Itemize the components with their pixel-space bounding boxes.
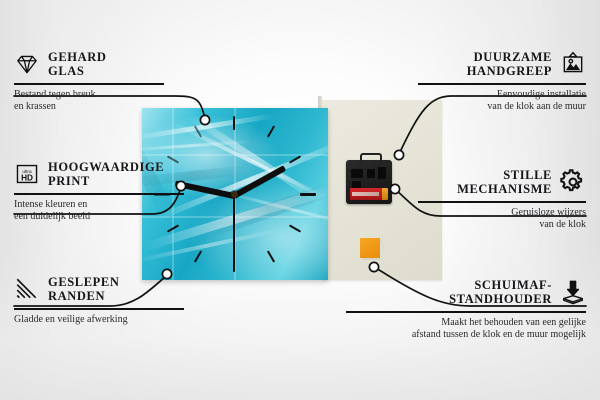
picture-frame-icon bbox=[560, 51, 586, 77]
mechanism-slot bbox=[367, 169, 375, 178]
gear-icon bbox=[560, 169, 586, 195]
clock-tick bbox=[233, 116, 235, 130]
callout-subtitle-line2: een duidelijk beeld bbox=[14, 211, 184, 224]
callout-subtitle-line2: van de klok bbox=[418, 219, 586, 232]
callout-header: GEHARD GLAS bbox=[14, 50, 164, 78]
callout-subtitle-line1: Maakt het behouden van een gelijke bbox=[346, 317, 586, 330]
callout-header: ultra HD HOOGWAARDIGE PRINT bbox=[14, 160, 184, 188]
callout-subtitle-line1: Eenvoudige installatie bbox=[418, 89, 586, 102]
clock-center-hub bbox=[231, 191, 238, 198]
callout-divider bbox=[418, 83, 586, 85]
callout-subtitle-line2: afstand tussen de klok en de muur mogeli… bbox=[346, 329, 586, 342]
callout-divider bbox=[346, 311, 586, 313]
callout-divider bbox=[14, 308, 184, 310]
product-feature-infographic: GEHARD GLAS Bestand tegen breuk en krass… bbox=[0, 0, 600, 400]
callout-header: STILLE MECHANISME bbox=[418, 168, 586, 196]
callout-header: DUURZAME HANDGREEP bbox=[418, 50, 586, 78]
callout-title: GEHARD GLAS bbox=[48, 50, 106, 78]
svg-text:HD: HD bbox=[21, 174, 33, 183]
callout-subtitle-line1: Intense kleuren en bbox=[14, 199, 184, 212]
callout-divider bbox=[418, 201, 586, 203]
callout-schuimafstandhouder: SCHUIMAF- STANDHOUDER Maakt het behouden… bbox=[346, 278, 586, 342]
callout-subtitle-line2: en krassen bbox=[14, 101, 164, 114]
callout-title: SCHUIMAF- STANDHOUDER bbox=[449, 278, 552, 306]
clock-mechanism bbox=[346, 160, 392, 204]
callout-header: GESLEPEN RANDEN bbox=[14, 275, 184, 303]
callout-geslepen-randen: GESLEPEN RANDEN Gladde en veilige afwerk… bbox=[14, 275, 184, 326]
callout-title: DUURZAME HANDGREEP bbox=[467, 50, 552, 78]
callout-title: STILLE MECHANISME bbox=[457, 168, 552, 196]
callout-duurzame-handgreep: DUURZAME HANDGREEP Eenvoudige installati… bbox=[418, 50, 586, 114]
beveled-edges-icon bbox=[14, 276, 40, 302]
ultra-hd-icon: ultra HD bbox=[14, 161, 40, 187]
mechanism-slot bbox=[352, 181, 361, 188]
foam-spacer-pad bbox=[360, 238, 380, 258]
hanger-loop-icon bbox=[360, 153, 382, 164]
callout-subtitle-line2: van de klok aan de muur bbox=[418, 101, 586, 114]
battery bbox=[350, 188, 382, 200]
callout-title: HOOGWAARDIGE PRINT bbox=[48, 160, 164, 188]
diamond-icon bbox=[14, 51, 40, 77]
callout-divider bbox=[14, 193, 184, 195]
callout-gehard-glas: GEHARD GLAS Bestand tegen breuk en krass… bbox=[14, 50, 164, 114]
mechanism-slot bbox=[351, 169, 363, 178]
foam-pad-side bbox=[380, 241, 384, 261]
callout-hoogwaardige-print: ultra HD HOOGWAARDIGE PRINT Intense kleu… bbox=[14, 160, 184, 224]
callout-subtitle-line1: Geruisloze wijzers bbox=[418, 207, 586, 220]
callout-stille-mechanisme: STILLE MECHANISME Geruisloze wijzers van… bbox=[418, 168, 586, 232]
clock-tick bbox=[300, 193, 316, 196]
callout-title: GESLEPEN RANDEN bbox=[48, 275, 120, 303]
battery-terminal bbox=[382, 188, 388, 200]
battery-label bbox=[352, 192, 379, 196]
clock-second-hand bbox=[233, 195, 235, 267]
callout-header: SCHUIMAF- STANDHOUDER bbox=[346, 278, 586, 306]
callout-divider bbox=[14, 83, 164, 85]
mechanism-slot bbox=[378, 167, 386, 179]
callout-subtitle-line1: Gladde en veilige afwerking bbox=[14, 314, 184, 327]
callout-subtitle-line1: Bestand tegen breuk bbox=[14, 89, 164, 102]
foam-spacer-icon bbox=[560, 279, 586, 305]
